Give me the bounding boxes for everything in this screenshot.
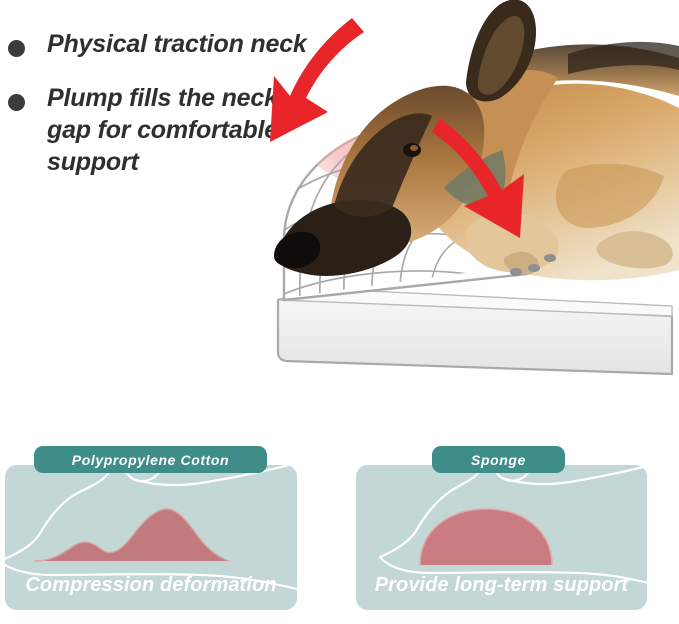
card-left-caption: Compression deformation	[5, 574, 297, 597]
top-section: Physical traction neck Plump fills the n…	[0, 0, 679, 410]
red-arrow-to-neck	[270, 18, 364, 142]
bed-mattress	[278, 288, 672, 374]
card-left-material-pill: Polypropylene Cotton	[34, 446, 267, 473]
card-right-material-label: Sponge	[471, 452, 526, 468]
material-card-sponge: Sponge Provide long-term support	[356, 465, 647, 610]
card-right-material-pill: Sponge	[432, 446, 565, 473]
material-card-polypropylene-cotton: Polypropylene Cotton Compression deforma…	[5, 465, 297, 610]
bullet-dot-icon	[8, 94, 25, 111]
dog-bed-scene	[268, 0, 679, 410]
card-left-material-label: Polypropylene Cotton	[72, 452, 229, 468]
bullet-dot-icon	[8, 40, 25, 57]
bottom-section: Polypropylene Cotton Compression deforma…	[0, 410, 679, 624]
infographic-page: Physical traction neck Plump fills the n…	[0, 0, 679, 624]
card-right-caption: Provide long-term support	[356, 574, 647, 597]
